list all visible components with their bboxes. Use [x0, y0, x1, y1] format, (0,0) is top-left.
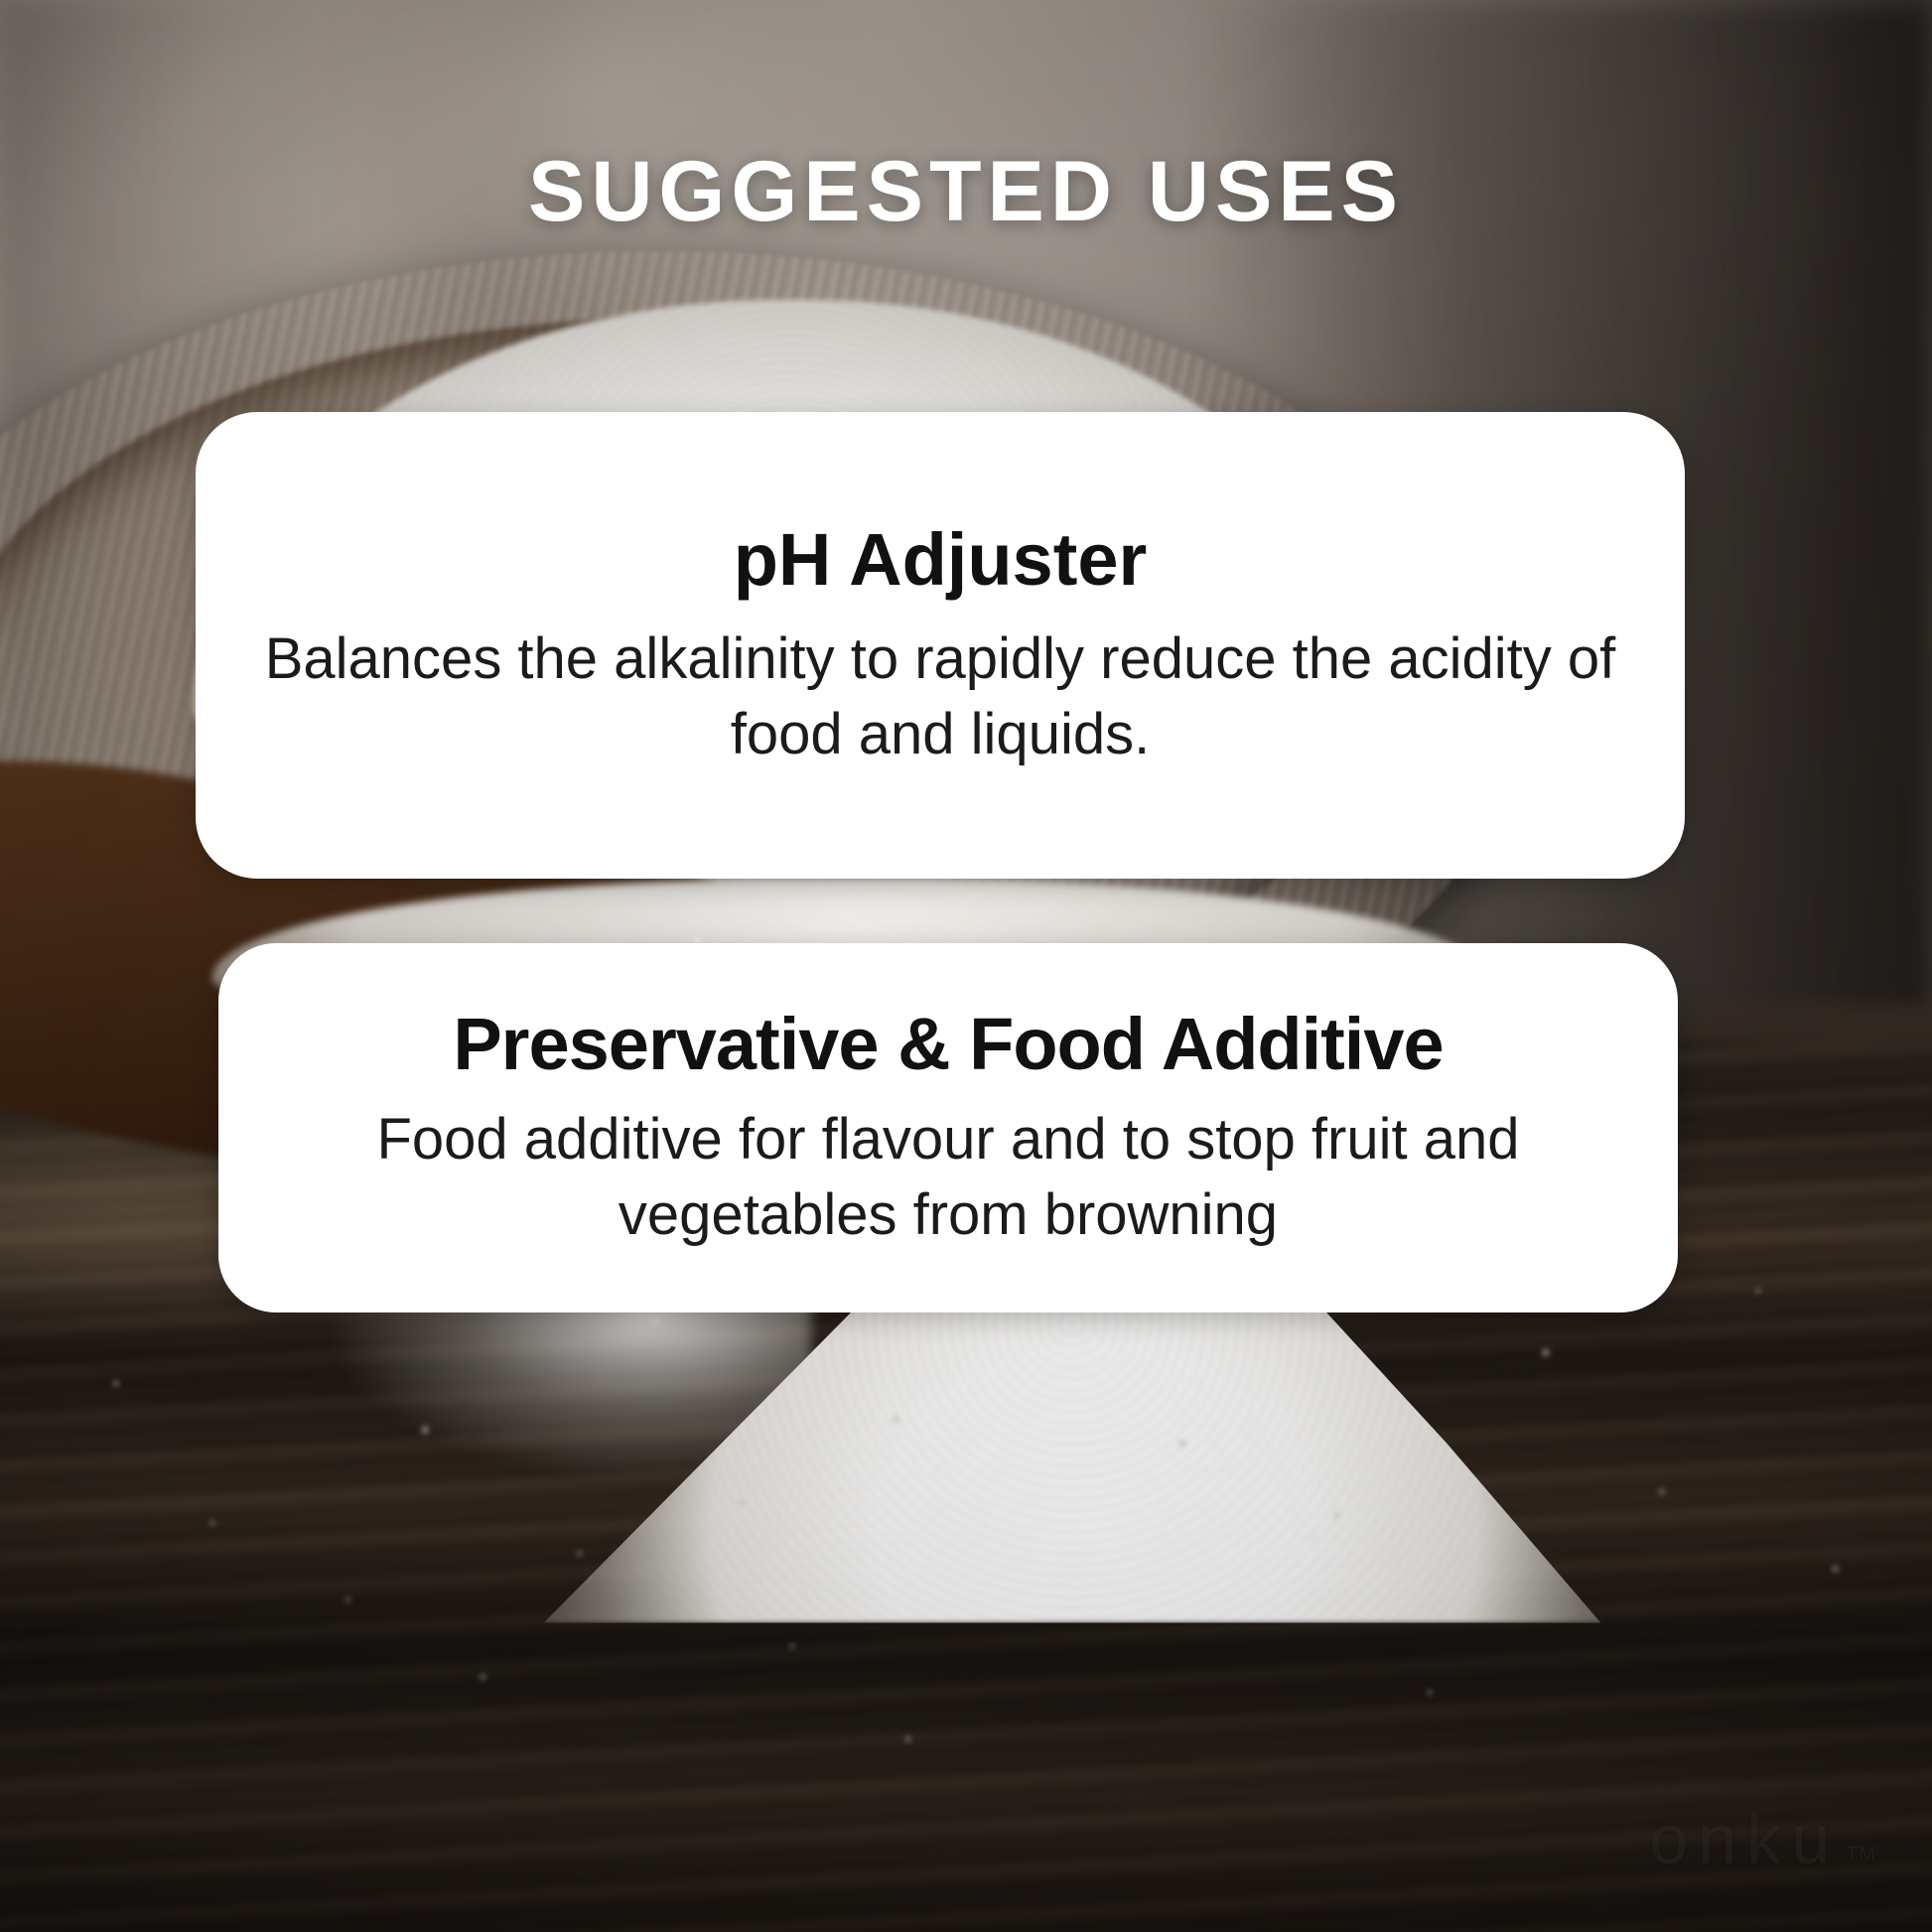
suggested-use-card-preservative-food-additive: Preservative & Food Additive Food additi…	[218, 943, 1678, 1312]
card-description: Balances the alkalinity to rapidly reduc…	[249, 621, 1631, 771]
watermark-brand-text: onku	[1649, 1805, 1840, 1874]
card-title: pH Adjuster	[249, 519, 1631, 600]
page-title: SUGGESTED USES	[0, 147, 1932, 236]
suggested-use-card-ph-adjuster: pH Adjuster Balances the alkalinity to r…	[196, 412, 1685, 879]
card-description: Food additive for flavour and to stop fr…	[272, 1102, 1624, 1252]
card-title: Preservative & Food Additive	[272, 1004, 1624, 1084]
brand-watermark: onku TM	[1649, 1805, 1876, 1874]
poster-canvas: SUGGESTED USES pH Adjuster Balances the …	[0, 0, 1932, 1932]
watermark-trademark-symbol: TM	[1846, 1845, 1876, 1864]
